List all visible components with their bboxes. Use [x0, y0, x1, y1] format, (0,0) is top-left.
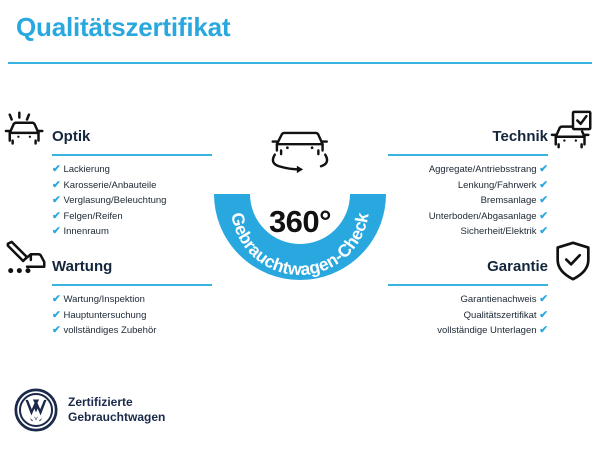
- certificate-page: Qualitätszertifikat Optik ✔ Lackierung ✔…: [0, 0, 600, 450]
- section-wartung: Wartung ✔ Wartung/Inspektion ✔ Hauptunte…: [52, 256, 212, 339]
- check-icon: ✔: [539, 163, 548, 175]
- section-garantie-divider: [388, 284, 548, 286]
- list-item-label: Karosserie/Anbauteile: [63, 180, 156, 191]
- list-item-label: vollständige Unterlagen: [437, 325, 536, 336]
- list-item-label: Sicherheit/Elektrik: [461, 226, 537, 237]
- list-item-label: Hauptuntersuchung: [63, 310, 146, 321]
- check-icon: ✔: [52, 194, 61, 206]
- footer-brand-text: Zertifizierte Gebrauchtwagen: [68, 395, 165, 425]
- section-technik: Technik Aggregate/Antriebsstrang ✔ Lenku…: [388, 126, 548, 240]
- check-icon: ✔: [52, 309, 61, 321]
- check-icon: ✔: [539, 210, 548, 222]
- list-item-label: Unterboden/Abgasanlage: [429, 211, 537, 222]
- list-item: Lenkung/Fahrwerk ✔: [388, 178, 548, 194]
- footer-line-1: Zertifizierte: [68, 395, 165, 410]
- car-shine-icon: [4, 108, 50, 154]
- check-icon: ✔: [539, 179, 548, 191]
- section-garantie-header: Garantie: [388, 256, 548, 282]
- list-item-label: Garantienachweis: [461, 294, 537, 305]
- list-item: ✔ Innenraum: [52, 224, 212, 240]
- check-icon: ✔: [539, 293, 548, 305]
- section-technik-items: Aggregate/Antriebsstrang ✔ Lenkung/Fahrw…: [388, 162, 548, 240]
- list-item-label: Lackierung: [63, 164, 109, 175]
- list-item: ✔ Lackierung: [52, 162, 212, 178]
- section-optik-items: ✔ Lackierung ✔ Karosserie/Anbauteile ✔ V…: [52, 162, 212, 240]
- check-icon: ✔: [52, 210, 61, 222]
- section-garantie: Garantie Garantienachweis ✔ Qualitätszer…: [388, 256, 548, 339]
- list-item: Unterboden/Abgasanlage ✔: [388, 209, 548, 225]
- section-technik-title: Technik: [388, 126, 548, 148]
- list-item: ✔ Hauptuntersuchung: [52, 308, 212, 324]
- list-item: Qualitätszertifikat ✔: [388, 308, 548, 324]
- list-item: Garantienachweis ✔: [388, 292, 548, 308]
- check-icon: ✔: [539, 194, 548, 206]
- section-garantie-items: Garantienachweis ✔ Qualitätszertifikat ✔…: [388, 292, 548, 339]
- section-optik-title: Optik: [52, 126, 212, 148]
- list-item: vollständige Unterlagen ✔: [388, 323, 548, 339]
- list-item: ✔ Karosserie/Anbauteile: [52, 178, 212, 194]
- section-wartung-header: Wartung: [52, 256, 212, 282]
- badge-360-check: Gebrauchtwagen-Check 360°: [206, 112, 394, 300]
- list-item: Bremsanlage ✔: [388, 193, 548, 209]
- vw-logo: [14, 388, 58, 432]
- check-icon: ✔: [539, 309, 548, 321]
- check-icon: ✔: [52, 179, 61, 191]
- list-item-label: vollständiges Zubehör: [63, 325, 156, 336]
- check-icon: ✔: [52, 225, 61, 237]
- list-item: Aggregate/Antriebsstrang ✔: [388, 162, 548, 178]
- list-item-label: Innenraum: [63, 226, 108, 237]
- check-icon: ✔: [52, 324, 61, 336]
- car-rotate-icon: [273, 133, 327, 173]
- section-technik-divider: [388, 154, 548, 156]
- list-item-label: Qualitätszertifikat: [464, 310, 537, 321]
- header-divider: [8, 62, 592, 64]
- list-item: ✔ Wartung/Inspektion: [52, 292, 212, 308]
- check-icon: ✔: [539, 324, 548, 336]
- car-checkbox-icon: [550, 108, 596, 154]
- section-technik-header: Technik: [388, 126, 548, 152]
- check-icon: ✔: [52, 293, 61, 305]
- section-optik-header: Optik: [52, 126, 212, 152]
- section-wartung-title: Wartung: [52, 256, 212, 278]
- section-garantie-title: Garantie: [388, 256, 548, 278]
- section-wartung-items: ✔ Wartung/Inspektion ✔ Hauptuntersuchung…: [52, 292, 212, 339]
- list-item-label: Lenkung/Fahrwerk: [458, 180, 537, 191]
- list-item: Sicherheit/Elektrik ✔: [388, 224, 548, 240]
- footer-line-2: Gebrauchtwagen: [68, 410, 165, 425]
- list-item: ✔ Felgen/Reifen: [52, 209, 212, 225]
- list-item-label: Aggregate/Antriebsstrang: [429, 164, 537, 175]
- section-optik-divider: [52, 154, 212, 156]
- check-icon: ✔: [539, 225, 548, 237]
- list-item-label: Wartung/Inspektion: [63, 294, 145, 305]
- list-item-label: Bremsanlage: [481, 195, 537, 206]
- footer-brand: Zertifizierte Gebrauchtwagen: [14, 388, 165, 432]
- shield-check-icon: [550, 238, 596, 284]
- list-item: ✔ vollständiges Zubehör: [52, 323, 212, 339]
- check-icon: ✔: [52, 163, 61, 175]
- list-item-label: Felgen/Reifen: [63, 211, 122, 222]
- wrench-car-icon: [4, 238, 50, 284]
- list-item-label: Verglasung/Beleuchtung: [63, 195, 166, 206]
- list-item: ✔ Verglasung/Beleuchtung: [52, 193, 212, 209]
- section-optik: Optik ✔ Lackierung ✔ Karosserie/Anbautei…: [52, 126, 212, 240]
- section-wartung-divider: [52, 284, 212, 286]
- badge-number: 360°: [206, 204, 394, 240]
- page-title: Qualitätszertifikat: [16, 14, 230, 40]
